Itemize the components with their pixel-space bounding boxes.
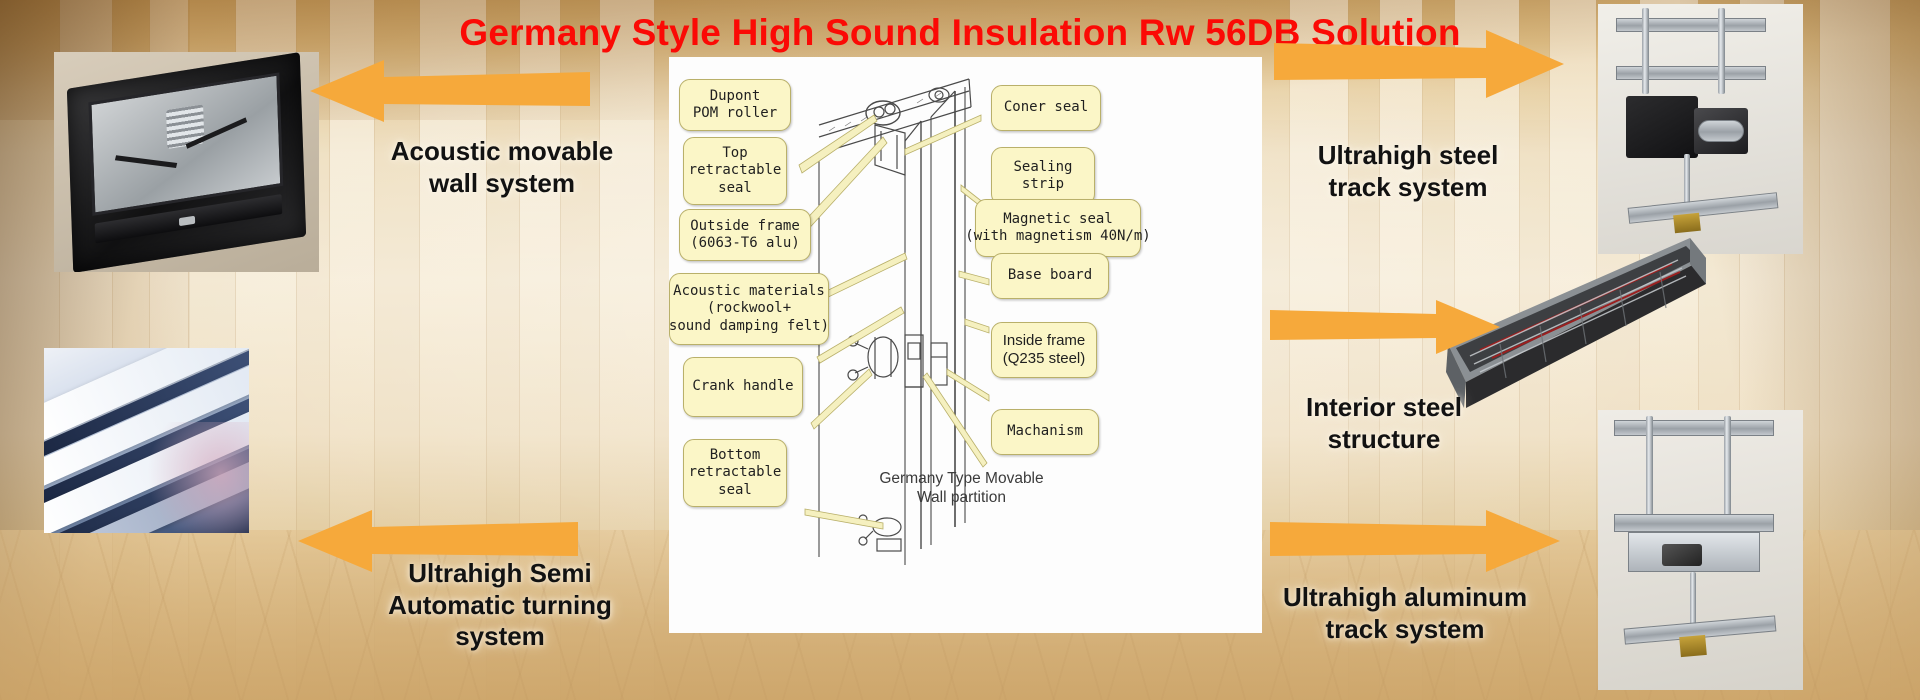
callout-sealing-strip: Sealing strip <box>991 147 1095 205</box>
callout-coner-seal: Coner seal <box>991 85 1101 131</box>
callout-dupont-pom-roller: Dupont POM roller <box>679 79 791 131</box>
callout-bottom-retractable-seal: Bottom retractable seal <box>683 439 787 507</box>
turning-system-photo <box>44 348 249 533</box>
arrow-right-icon-middle <box>1270 300 1500 354</box>
callout-magnetic-seal: Magnetic seal (with magnetism 40N/m) <box>975 199 1141 257</box>
caption-acoustic-movable-wall-system: Acoustic movable wall system <box>352 136 652 199</box>
caption-interior-steel-structure: Interior steel structure <box>1244 392 1524 455</box>
arrow-left-icon-top <box>310 60 590 122</box>
wall-partition-diagram: Dupont POM roller Top retractable seal O… <box>669 57 1262 633</box>
callout-outside-frame: Outside frame (6063-T6 alu) <box>679 209 811 261</box>
callout-machanism: Machanism <box>991 409 1099 455</box>
infographic-canvas: Germany Style High Sound Insulation Rw 5… <box>0 0 1920 700</box>
callout-inside-frame: Inside frame (Q235 steel) <box>991 322 1097 378</box>
caption-ultrahigh-aluminum-track-system: Ultrahigh aluminum track system <box>1240 582 1570 645</box>
aluminum-track-photo <box>1598 410 1803 690</box>
callout-base-board: Base board <box>991 253 1109 299</box>
movable-wall-panel-photo <box>54 52 319 272</box>
diagram-caption: Germany Type Movable Wall partition <box>854 469 1069 508</box>
caption-ultrahigh-steel-track-system: Ultrahigh steel track system <box>1258 140 1558 203</box>
arrow-right-icon-top <box>1274 30 1564 98</box>
callout-acoustic-materials: Acoustic materials (rockwool+ sound damp… <box>669 273 829 345</box>
arrow-right-icon-bottom <box>1270 510 1560 572</box>
callout-crank-handle: Crank handle <box>683 357 803 417</box>
steel-track-bracket-photo <box>1598 4 1803 254</box>
callout-top-retractable-seal: Top retractable seal <box>683 137 787 205</box>
caption-ultrahigh-semi-automatic-turning-system: Ultrahigh Semi Automatic turning system <box>330 558 670 653</box>
